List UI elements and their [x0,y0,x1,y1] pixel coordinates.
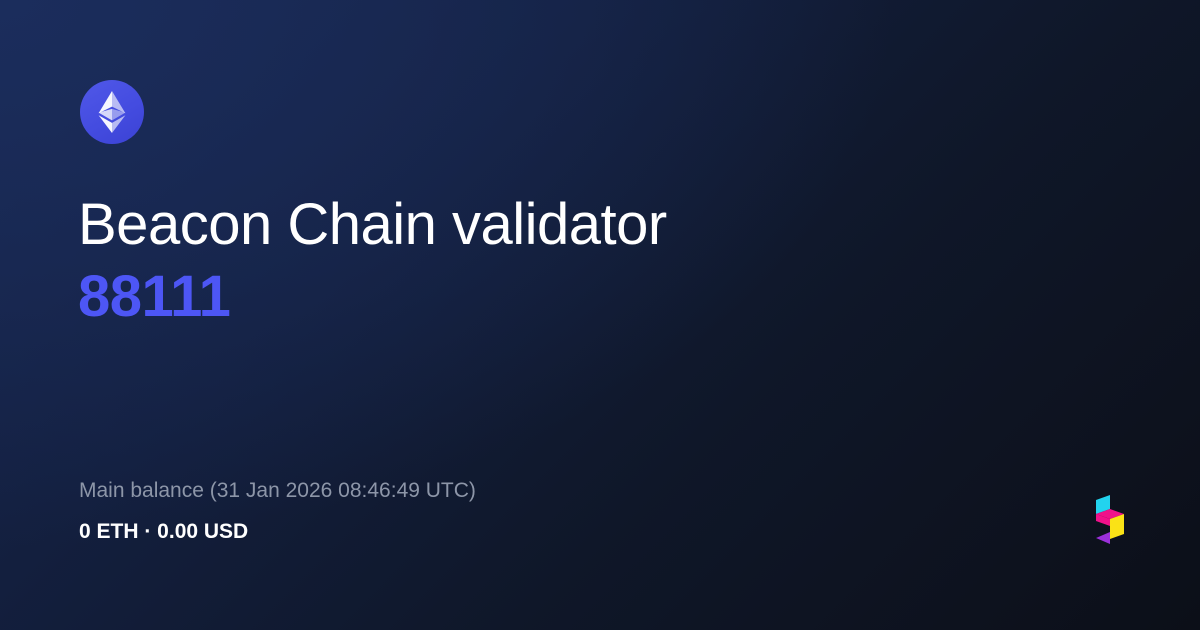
page-title-text: Beacon Chain validator [78,189,1078,261]
ethereum-badge [80,80,144,144]
beaconchain-logo-icon [1092,494,1128,552]
og-card: Beacon Chain validator 88111 Main balanc… [0,0,1200,630]
page-title: Beacon Chain validator 88111 [78,189,1078,333]
balance-label: Main balance (31 Jan 2026 08:46:49 UTC) [79,476,979,506]
validator-index: 88111 [78,261,1078,333]
balance-value: 0 ETH · 0.00 USD [79,518,979,546]
balance-block: Main balance (31 Jan 2026 08:46:49 UTC) … [79,476,979,546]
ethereum-icon [97,90,127,134]
